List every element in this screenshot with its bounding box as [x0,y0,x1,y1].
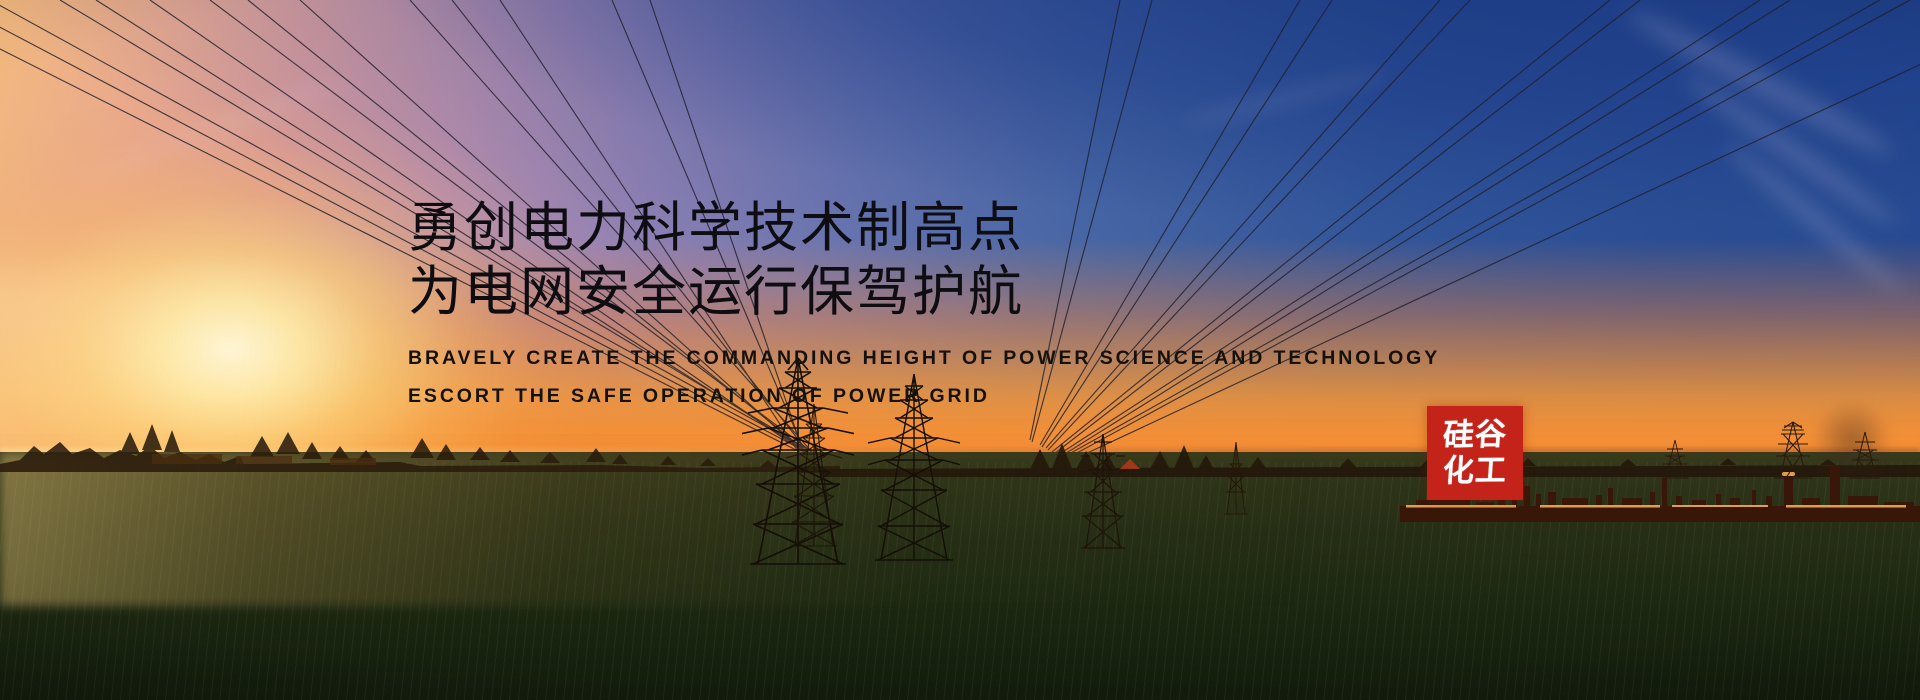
pylon-distant-right [1222,440,1250,516]
pylon-left-of-center [786,400,842,550]
logo-text-line-1: 硅谷 [1442,419,1508,451]
pylon-far-right-1 [1770,420,1816,480]
company-logo-stamp[interactable]: 硅谷 化工 [1427,406,1523,500]
hero-banner: 勇创电力科学技术制高点 为电网安全运行保驾护航 BRAVELY CREATE T… [0,0,1920,700]
banner-copy: 勇创电力科学技术制高点 为电网安全运行保驾护航 BRAVELY CREATE T… [408,196,1508,415]
pylon-far-right-2 [1846,430,1884,480]
subtitle-line-1: BRAVELY CREATE THE COMMANDING HEIGHT OF … [408,339,1508,377]
pylon-far-right-3 [1660,438,1690,480]
pylon-mid-right [1080,430,1126,550]
headline-line-1: 勇创电力科学技术制高点 [408,196,1508,260]
subtitle-line-2: ESCORT THE SAFE OPERATION OF POWER GRID [408,377,1508,415]
logo-text-line-2: 化工 [1442,455,1508,486]
headline-line-2: 为电网安全运行保驾护航 [408,260,1508,324]
